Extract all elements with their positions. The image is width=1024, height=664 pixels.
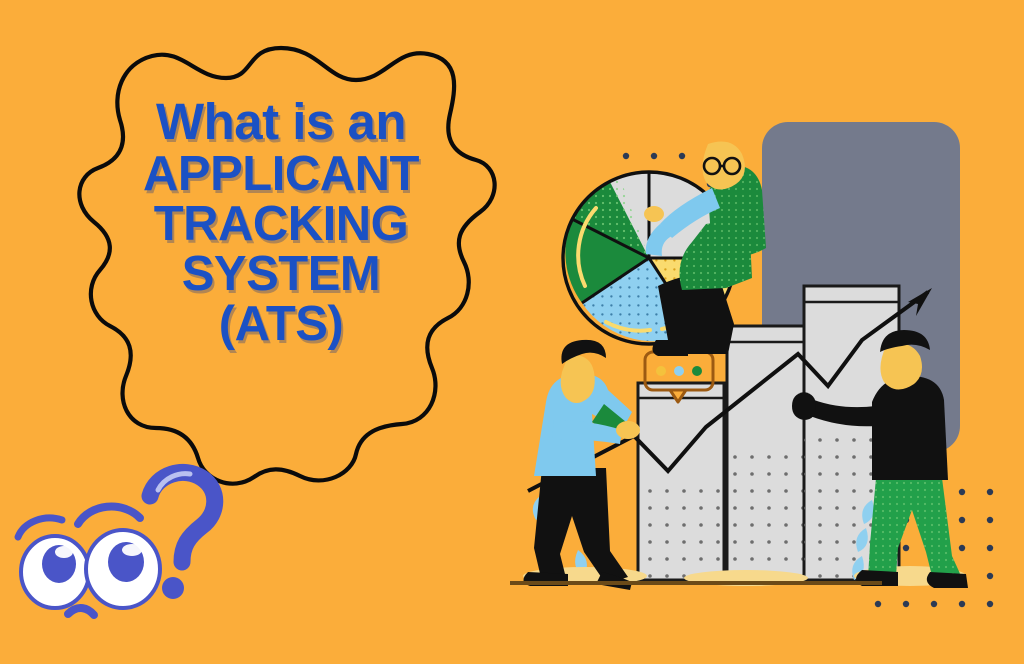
person-right-hand: [792, 392, 816, 420]
business-analytics-illustration: [510, 96, 1010, 626]
bar-1: [638, 383, 724, 580]
person-right-shoe-2: [927, 572, 968, 588]
bubble-dot-2-icon: [674, 366, 684, 376]
eye-highlight-left-icon: [55, 546, 73, 558]
curious-eyes-question-mark-icon: [6, 452, 236, 632]
person-left-hand: [616, 421, 640, 439]
headline-frame: [56, 36, 506, 496]
person-seated-shoe: [652, 340, 688, 356]
bubble-dot-1-icon: [656, 366, 666, 376]
person-left-pushing-bar: [523, 340, 640, 590]
person-seated-hand: [644, 206, 664, 222]
person-right-shirt: [872, 376, 948, 480]
eyebrow-right-icon: [78, 507, 140, 524]
eye-highlight-right-icon: [122, 544, 142, 556]
person-left-head: [561, 355, 595, 403]
scalloped-bracket-frame-path: [79, 48, 494, 484]
poster-canvas: What is an APPLICANT TRACKING SYSTEM (AT…: [0, 0, 1024, 664]
question-mark-dot-icon: [162, 577, 184, 599]
mouth-icon: [68, 608, 94, 615]
bubble-dot-3-icon: [692, 366, 702, 376]
